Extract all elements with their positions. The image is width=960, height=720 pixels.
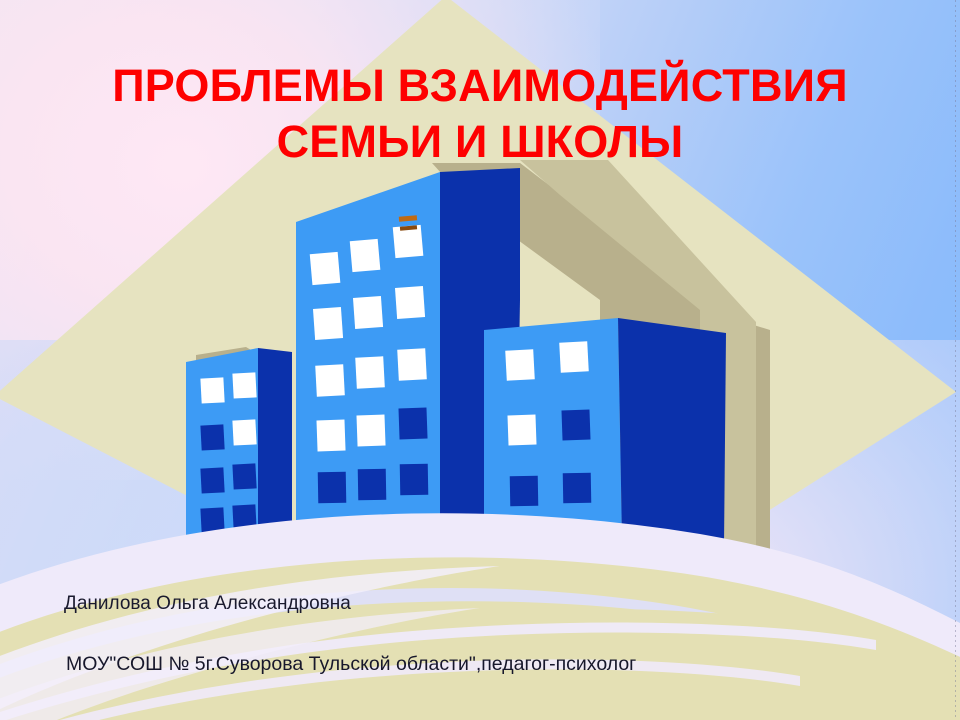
title-line-1: ПРОБЛЕМЫ ВЗАИМОДЕЙСТВИЯ — [0, 58, 960, 114]
author-name: Данилова Ольга Александровна — [64, 592, 351, 616]
title-line-2: СЕМЬИ И ШКОЛЫ — [0, 114, 960, 170]
author-affiliation: МОУ"СОШ № 5г.Суворова Тульской области",… — [66, 652, 636, 676]
slide-edge-hairline — [955, 0, 956, 720]
slide-title: ПРОБЛЕМЫ ВЗАИМОДЕЙСТВИЯ СЕМЬИ И ШКОЛЫ — [0, 58, 960, 170]
presentation-slide: ПРОБЛЕМЫ ВЗАИМОДЕЙСТВИЯ СЕМЬИ И ШКОЛЫ Да… — [0, 0, 960, 720]
